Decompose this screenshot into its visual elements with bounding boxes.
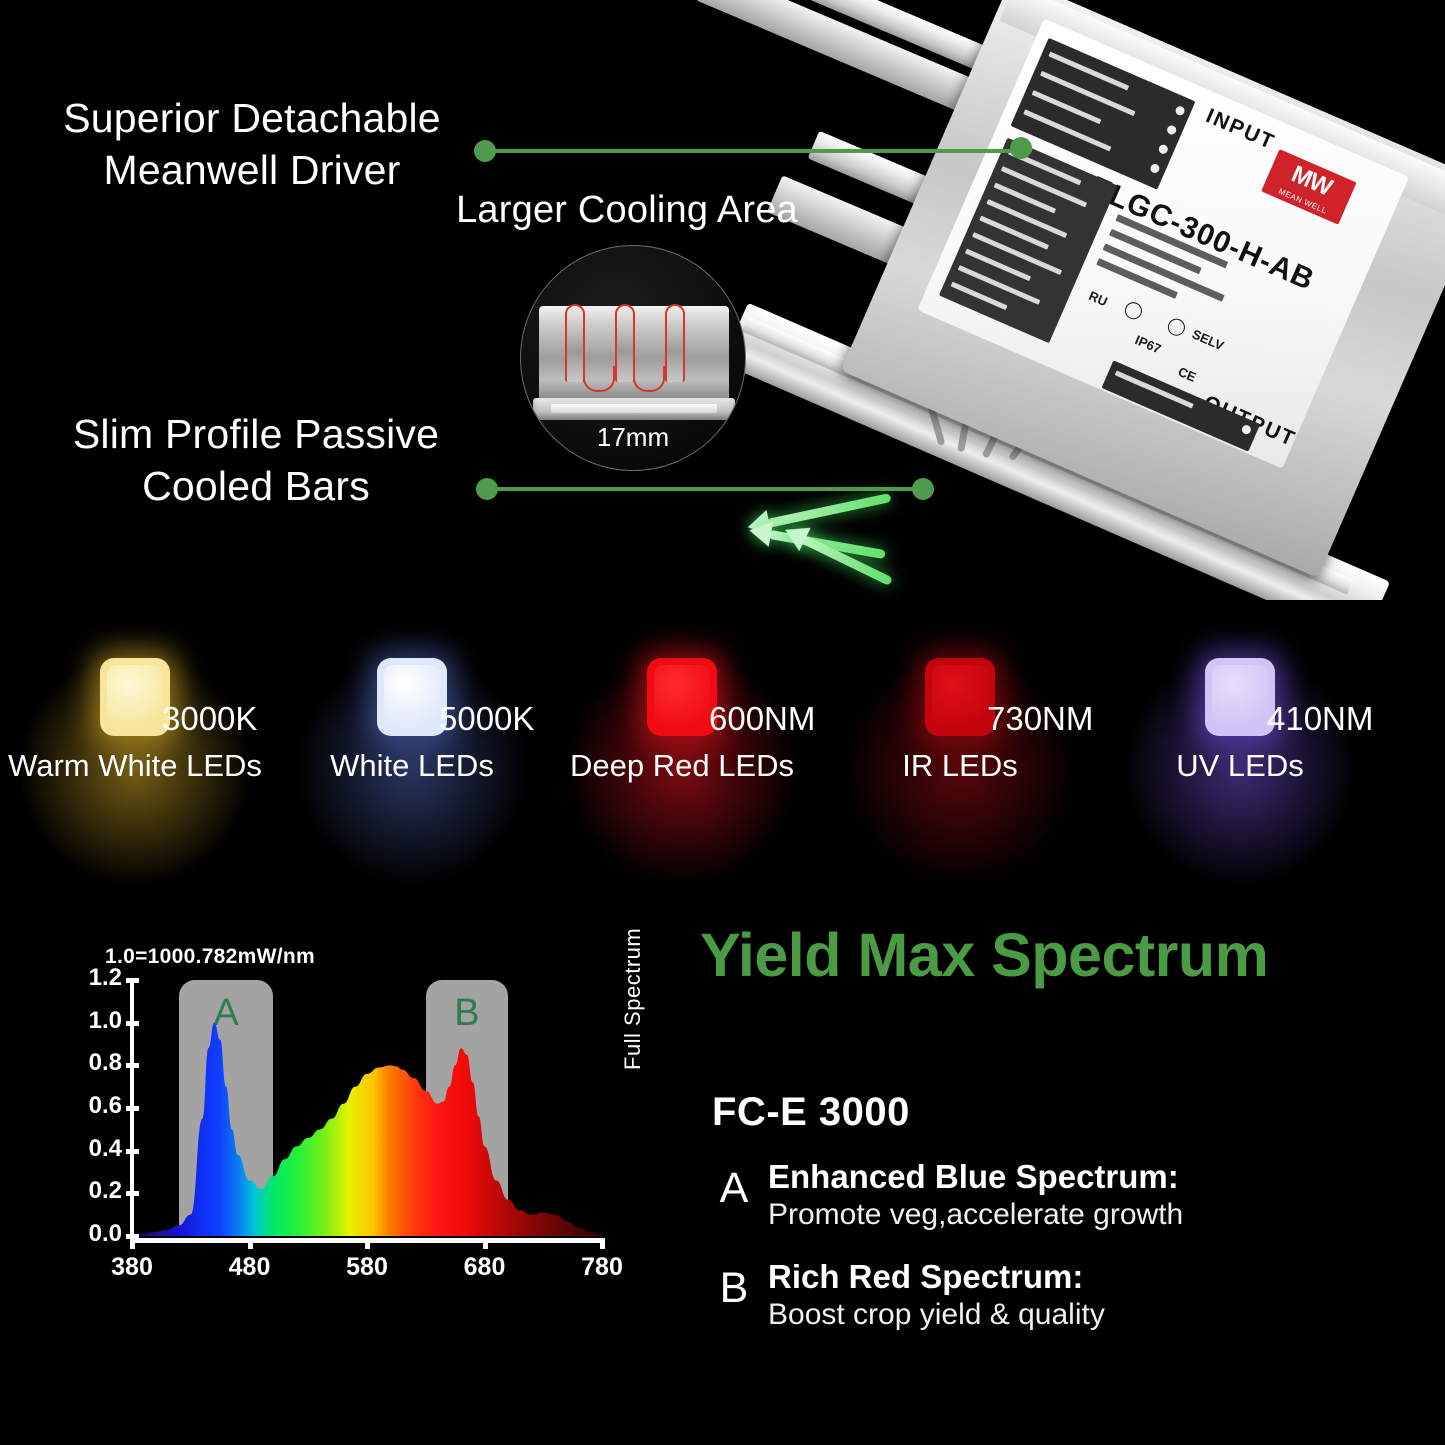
heatsink-fin — [615, 304, 635, 382]
feature-b-title: Rich Red Spectrum: — [768, 1258, 1083, 1296]
cert-ip67: IP67 — [1133, 332, 1164, 356]
led-type-name: Warm White LEDs — [8, 748, 262, 784]
cert-selv: SELV — [1190, 326, 1226, 353]
led-type-item: 410NMUV LEDs — [1115, 600, 1365, 900]
chart-y-tick-label: 0.6 — [60, 1092, 122, 1120]
chart-plot-area: AB — [132, 980, 602, 1236]
led-chip-inner — [384, 665, 440, 729]
led-wavelength: 3000K — [162, 700, 257, 738]
heatsink-fin — [565, 304, 585, 382]
chart-y-tick — [126, 1106, 139, 1111]
spectrum-chart: 1.0=1000.782mW/nm AB 0.00.20.40.60.81.01… — [60, 920, 660, 1390]
led-wavelength: 410NM — [1267, 700, 1373, 738]
callout-line: Larger Cooling Area — [456, 189, 798, 231]
chart-x-tick — [365, 1238, 370, 1249]
chart-y-tick — [126, 1191, 139, 1196]
chart-y-tick-label: 0.0 — [60, 1220, 122, 1248]
heatsink-slot — [551, 404, 717, 413]
led-types-section: 3000KWarm White LEDs5000KWhite LEDs600NM… — [0, 600, 1445, 900]
led-chip — [100, 658, 170, 736]
callout-dot-slim-end — [912, 478, 934, 500]
chart-x-tick-label: 380 — [92, 1253, 172, 1282]
led-type-item: 730NMIR LEDs — [835, 600, 1085, 900]
chart-x-tick-label: 580 — [327, 1253, 407, 1282]
chart-y-tick-label: 0.8 — [60, 1049, 122, 1077]
feature-a-title: Enhanced Blue Spectrum: — [768, 1158, 1179, 1196]
led-chip-inner — [932, 665, 988, 729]
callout-line: Meanwell Driver — [104, 147, 401, 193]
spectrum-curve — [132, 980, 602, 1236]
led-type-name: Deep Red LEDs — [570, 748, 794, 784]
heatsink-valley — [633, 366, 665, 392]
callout-dot-driver-end — [1010, 137, 1032, 159]
cert-mark-circle-2 — [1165, 316, 1187, 338]
chart-x-tick-label: 680 — [445, 1253, 525, 1282]
led-chip — [647, 658, 717, 736]
cert-ce: CE — [1176, 364, 1199, 385]
chart-units-note: 1.0=1000.782mW/nm — [105, 945, 315, 969]
chart-y-tick — [126, 978, 139, 983]
led-type-item: 3000KWarm White LEDs — [10, 600, 260, 900]
led-chip-inner — [107, 665, 163, 729]
chart-y-tick — [126, 1021, 139, 1026]
heatsink-fin — [665, 304, 685, 382]
led-chip-inner — [654, 665, 710, 729]
spectrum-curve-svg — [132, 980, 602, 1236]
heatsink-valley — [583, 366, 615, 392]
callout-line: Slim Profile Passive — [73, 411, 439, 457]
callout-line-slim — [494, 487, 924, 491]
led-chip — [1205, 658, 1275, 736]
chart-y-tick-label: 1.2 — [60, 964, 122, 992]
spectrum-area — [132, 1023, 602, 1236]
chart-y-tick-label: 0.4 — [60, 1135, 122, 1163]
heatsink-dimension-label: 17mm — [521, 422, 745, 453]
light-arrow-1 — [766, 493, 891, 528]
led-chip-inner — [1212, 665, 1268, 729]
callout-line: Superior Detachable — [63, 95, 441, 141]
callout-driver-label: Superior DetachableMeanwell Driver — [22, 92, 482, 197]
led-type-item: 600NMDeep Red LEDs — [557, 600, 807, 900]
chart-y-tick-label: 0.2 — [60, 1177, 122, 1205]
led-wavelength: 600NM — [709, 700, 815, 738]
chart-x-tick — [483, 1238, 488, 1249]
feature-a-letter: A — [712, 1164, 756, 1213]
callout-line: Cooled Bars — [142, 463, 370, 509]
feature-b-letter: B — [712, 1264, 756, 1313]
feature-b-desc: Boost crop yield & quality — [768, 1298, 1105, 1332]
led-wavelength: 5000K — [439, 700, 534, 738]
spectrum-section: 1.0=1000.782mW/nm AB 0.00.20.40.60.81.01… — [0, 900, 1445, 1445]
led-type-item: 5000KWhite LEDs — [287, 600, 537, 900]
spectrum-model-name: FC-E 3000 — [712, 1090, 910, 1135]
chart-x-tick — [130, 1238, 135, 1249]
chart-x-tick-label: 480 — [210, 1253, 290, 1282]
callout-cooling-label: Larger Cooling Area — [452, 186, 802, 235]
chart-x-tick-label: 780 — [562, 1253, 642, 1282]
led-type-name: White LEDs — [330, 748, 494, 784]
led-chip — [377, 658, 447, 736]
chart-y-tick — [126, 1149, 139, 1154]
hero-section: INPUT MW MEAN WELL ELGC-300-H-AB — [0, 0, 1445, 600]
led-type-name: IR LEDs — [902, 748, 1017, 784]
led-wavelength: 730NM — [987, 700, 1093, 738]
product-infographic: INPUT MW MEAN WELL ELGC-300-H-AB — [0, 0, 1445, 1445]
led-chip — [925, 658, 995, 736]
callout-slim-label: Slim Profile PassiveCooled Bars — [26, 408, 486, 513]
feature-a-desc: Promote veg,accelerate growth — [768, 1198, 1183, 1232]
chart-x-tick — [600, 1238, 605, 1249]
spectrum-info-panel: Yield Max Spectrum FC-E 3000 A Enhanced … — [700, 910, 1430, 1430]
chart-x-tick — [248, 1238, 253, 1249]
meanwell-logo: MW MEAN WELL — [1261, 149, 1356, 225]
led-type-name: UV LEDs — [1176, 748, 1303, 784]
chart-y-tick — [126, 1063, 139, 1068]
cert-mark-circle-1 — [1122, 300, 1144, 322]
cooling-area-magnifier: 17mm — [520, 245, 746, 471]
chart-y-tick-label: 1.0 — [60, 1007, 122, 1035]
cert-ru: RU — [1087, 288, 1110, 309]
chart-side-label: Full Spectrum — [620, 928, 646, 1070]
callout-line-driver — [492, 149, 1032, 153]
spectrum-heading: Yield Max Spectrum — [700, 920, 1430, 990]
